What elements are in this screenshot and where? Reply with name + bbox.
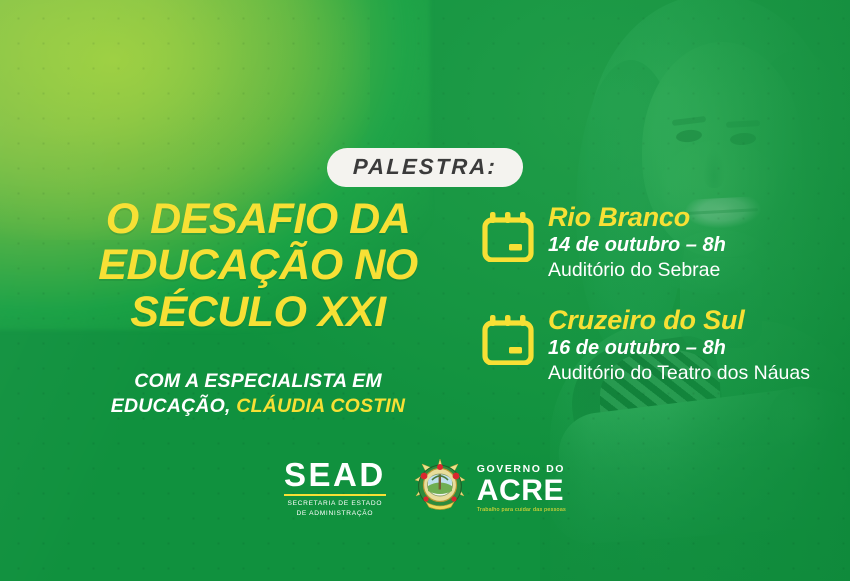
- banner-content: PALESTRA: O DESAFIO DA EDUCAÇÃO NO SÉCUL…: [0, 0, 850, 581]
- event-city: Cruzeiro do Sul: [548, 307, 810, 335]
- event-city: Rio Branco: [548, 204, 726, 232]
- government-tagline: Trabalho para cuidar das pessoas: [477, 508, 566, 513]
- event-item: Rio Branco 14 de outubro – 8h Auditório …: [482, 203, 810, 282]
- speaker-name: CLÁUDIA COSTIN: [236, 395, 405, 417]
- event-item: Cruzeiro do Sul 16 de outubro – 8h Audit…: [482, 306, 810, 385]
- subheadline-line-1: COM A ESPECIALISTA EM: [58, 369, 458, 394]
- event-venue: Auditório do Sebrae: [548, 259, 726, 283]
- event-text: Rio Branco 14 de outubro – 8h Auditório …: [548, 203, 726, 282]
- subheadline-line-2: EDUCAÇÃO, CLÁUDIA COSTIN: [58, 394, 458, 419]
- headline-line-3: SÉCULO XXI: [58, 289, 458, 335]
- calendar-icon: [482, 313, 534, 365]
- sead-subtitle-line-2: DE ADMINISTRAÇÃO: [284, 509, 386, 519]
- subheadline-prefix: EDUCAÇÃO,: [111, 395, 237, 417]
- event-list: Rio Branco 14 de outubro – 8h Auditório …: [482, 203, 810, 386]
- government-label: GOVERNO DO: [477, 464, 566, 475]
- calendar-icon: [482, 210, 534, 262]
- event-date: 16 de outubro – 8h: [548, 336, 810, 361]
- sead-acronym: SEAD: [284, 458, 386, 491]
- government-logo: GOVERNO DO ACRE Trabalho para cuidar das…: [412, 458, 566, 519]
- headline: O DESAFIO DA EDUCAÇÃO NO SÉCULO XXI: [58, 196, 458, 335]
- subheadline: COM A ESPECIALISTA EM EDUCAÇÃO, CLÁUDIA …: [58, 369, 458, 418]
- event-date: 14 de outubro – 8h: [548, 233, 726, 258]
- acre-coat-of-arms-icon: [412, 458, 468, 519]
- government-state: ACRE: [477, 476, 566, 506]
- sead-divider: [284, 494, 386, 496]
- event-text: Cruzeiro do Sul 16 de outubro – 8h Audit…: [548, 306, 810, 385]
- headline-line-1: O DESAFIO DA: [58, 196, 458, 242]
- sead-logo: SEAD SECRETARIA DE ESTADO DE ADMINISTRAÇ…: [284, 458, 390, 518]
- government-wordmark: GOVERNO DO ACRE Trabalho para cuidar das…: [477, 464, 566, 513]
- badge-row: PALESTRA:: [0, 148, 850, 187]
- sead-subtitle-line-1: SECRETARIA DE ESTADO: [284, 499, 386, 509]
- promotional-banner: PALESTRA: O DESAFIO DA EDUCAÇÃO NO SÉCUL…: [0, 0, 850, 581]
- footer-logos: SEAD SECRETARIA DE ESTADO DE ADMINISTRAÇ…: [0, 458, 850, 519]
- event-venue: Auditório do Teatro dos Náuas: [548, 362, 810, 386]
- palestra-badge: PALESTRA:: [326, 148, 523, 187]
- headline-line-2: EDUCAÇÃO NO: [58, 242, 458, 288]
